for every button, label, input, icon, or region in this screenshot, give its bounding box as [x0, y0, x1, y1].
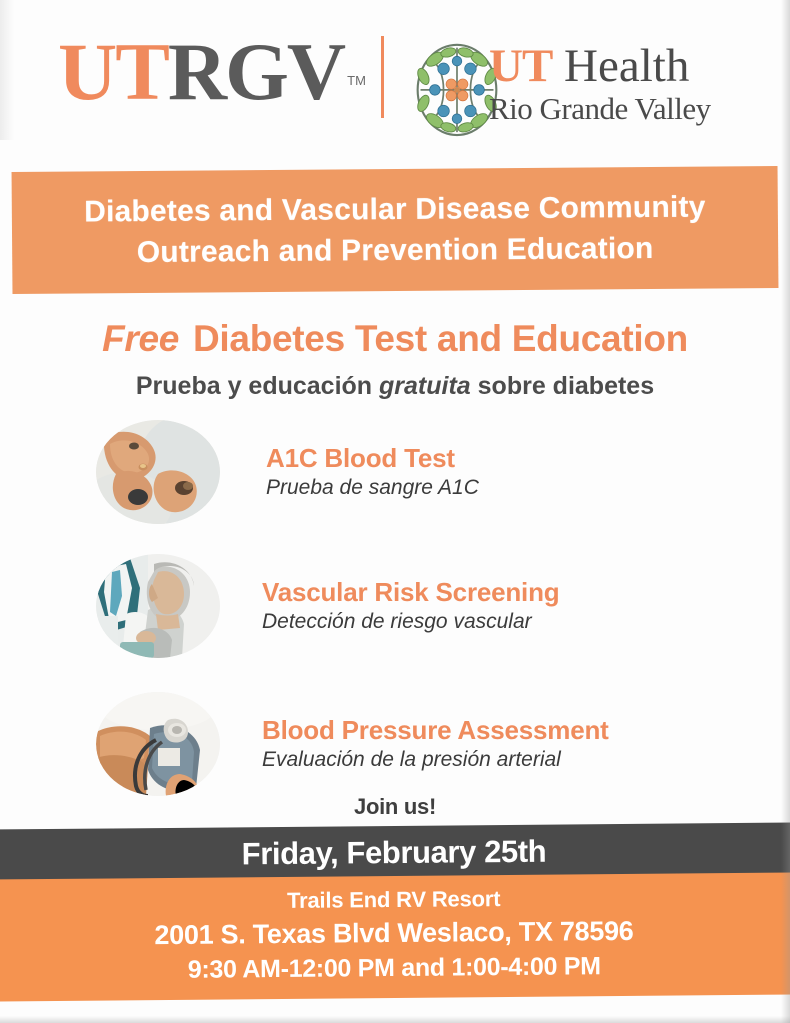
service-subtitle: Prueba de sangre A1C: [266, 475, 479, 501]
scan-artifact-bottom: [0, 1016, 790, 1023]
spanish-after: sobre diabetes: [471, 372, 654, 400]
event-location-text: Trails End RV Resort 2001 S. Texas Blvd …: [154, 883, 634, 987]
scan-artifact-right: [781, 0, 790, 1023]
event-location-band: Trails End RV Resort 2001 S. Texas Blvd …: [0, 873, 790, 1002]
logo-divider: [381, 36, 384, 118]
headline-free-word: Free: [102, 318, 179, 359]
ut-health-wordmark: UT Health: [489, 40, 759, 92]
join-us-text: Join us!: [0, 794, 790, 820]
service-subtitle: Detección de riesgo vascular: [262, 609, 559, 635]
service-item: Blood Pressure Assessment Evaluación de …: [96, 690, 736, 798]
service-text: Vascular Risk Screening Detección de rie…: [262, 577, 559, 635]
service-item: Vascular Risk Screening Detección de rie…: [96, 552, 736, 660]
title-banner: Diabetes and Vascular Disease Community …: [12, 166, 779, 294]
header-logos: UTRGVTM: [0, 0, 790, 160]
utrgv-rgv-text: RGV: [168, 33, 344, 111]
ut-health-logo: UT Health Rio Grande Valley: [489, 40, 759, 126]
service-text: A1C Blood Test Prueba de sangre A1C: [266, 443, 479, 501]
service-title: Vascular Risk Screening: [262, 577, 559, 607]
service-title: Blood Pressure Assessment: [262, 715, 609, 745]
trademark-mark: TM: [347, 73, 366, 88]
headline-spanish: Prueba y educación gratuita sobre diabet…: [0, 372, 790, 401]
service-item: A1C Blood Test Prueba de sangre A1C: [96, 418, 736, 526]
ut-health-ut-text: UT: [489, 40, 552, 92]
venue-name: Trails End RV Resort: [154, 883, 633, 917]
service-subtitle: Evaluación de la presión arterial: [262, 747, 609, 773]
blood-pressure-cuff-photo: [96, 692, 220, 796]
spanish-before: Prueba y educación: [136, 372, 379, 400]
patient-clinician-photo: [96, 554, 220, 658]
ut-health-region-text: Rio Grande Valley: [489, 92, 759, 126]
banner-line-1: Diabetes and Vascular Disease Community: [84, 187, 706, 233]
event-date-text: Friday, February 25th: [242, 834, 547, 873]
service-text: Blood Pressure Assessment Evaluación de …: [262, 715, 609, 773]
spanish-gratuita-word: gratuita: [379, 372, 471, 400]
utrgv-ut-text: UT: [58, 33, 168, 111]
scan-artifact-left: [0, 0, 14, 140]
flyer-page: UTRGVTM: [0, 0, 790, 1023]
banner-line-2: Outreach and Prevention Education: [84, 228, 706, 274]
venue-hours: 9:30 AM-12:00 PM and 1:00-4:00 PM: [155, 949, 634, 987]
title-banner-text: Diabetes and Vascular Disease Community …: [84, 187, 706, 274]
service-title: A1C Blood Test: [266, 443, 479, 473]
ut-health-health-text: Health: [552, 40, 689, 92]
glucose-meter-hands-photo: [96, 420, 220, 524]
headline-rest: Diabetes Test and Education: [183, 318, 688, 359]
utrgv-logo: UTRGVTM: [58, 33, 366, 111]
venue-address: 2001 S. Texas Blvd Weslaco, TX 78596: [154, 913, 633, 953]
headline-english: Free Diabetes Test and Education: [0, 318, 790, 360]
